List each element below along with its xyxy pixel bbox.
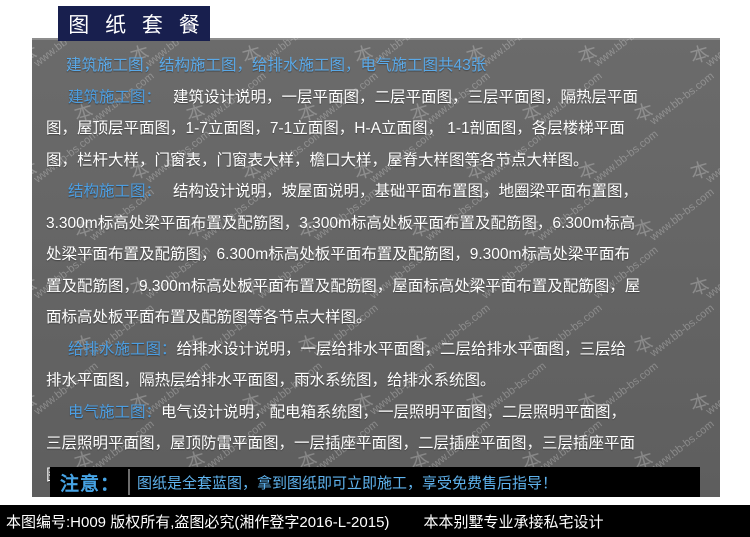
- page-title-box: 图 纸 套 餐: [58, 6, 210, 41]
- notice-bar: 注意： 图纸是全套蓝图，拿到图纸即可立即施工，享受免费售后指导！: [50, 467, 700, 497]
- footer-copyright: 本图编号:H009 版权所有,盗图必究(湘作登字2016-L-2015): [0, 511, 389, 532]
- section-electrical-first-line: 电气施工图：电气设计说明，配电箱系统图，一层照明平面图，二层照明平面图，: [46, 397, 706, 429]
- summary-line: 建筑施工图，结构施工图，给排水施工图，电气施工图共43张: [46, 50, 706, 82]
- section-electrical-colon: ：: [146, 404, 162, 421]
- section-electrical-line-0: 电气设计说明，配电箱系统图，一层照明平面图，二层照明平面图，: [161, 404, 626, 421]
- section-structural-title: 结构施工图: [68, 183, 146, 200]
- section-architectural-colon: ：: [146, 89, 162, 106]
- section-plumbing-line-1-row: 排水平面图，隔热层给排水平面图，雨水系统图，给排水系统图。: [46, 365, 706, 397]
- section-architectural-first-line: 建筑施工图：建筑设计说明，一层平面图，二层平面图，三层平面图，隔热层平面: [46, 82, 706, 114]
- section-architectural-line-2: 图，栏杆大样，门窗表，门窗表大样，檐口大样，屋脊大样图等各节点大样图。: [46, 152, 589, 169]
- section-architectural-line-2-row: 图，栏杆大样，门窗表，门窗表大样，檐口大样，屋脊大样图等各节点大样图。: [46, 145, 706, 177]
- section-architectural-title: 建筑施工图: [68, 89, 146, 106]
- section-plumbing-colon: ：: [161, 341, 177, 358]
- section-architectural-line-0: 建筑设计说明，一层平面图，二层平面图，三层平面图，隔热层平面: [173, 89, 638, 106]
- section-electrical-line-1-row: 三层照明平面图，屋顶防雷平面图，一层插座平面图，二层插座平面图，三层插座平面: [46, 428, 706, 460]
- section-structural-colon: ：: [146, 183, 162, 200]
- section-structural-line-2-row: 处梁平面布置及配筋图，6.300m标高处板平面布置及配筋图，9.300m标高处梁…: [46, 239, 706, 271]
- section-structural-line-4: 面标高处板平面布置及配筋图等各节点大样图。: [46, 309, 372, 326]
- section-structural-line-1: 3.300m标高处梁平面布置及配筋图，3.300m标高处板平面布置及配筋图，6.…: [46, 215, 635, 232]
- notice-label: 注意：: [50, 469, 128, 496]
- section-structural-first-line: 结构施工图：结构设计说明，坡屋面说明，基础平面布置图，地圈梁平面布置图，: [46, 176, 706, 208]
- section-architectural-line-1: 图，屋顶层平面图，1-7立面图，7-1立面图，H-A立面图， 1-1剖面图，各层…: [46, 120, 625, 137]
- section-structural-line-4-row: 面标高处板平面布置及配筋图等各节点大样图。: [46, 302, 706, 334]
- section-structural-line-1-row: 3.300m标高处梁平面布置及配筋图，3.300m标高处板平面布置及配筋图，6.…: [46, 208, 706, 240]
- section-plumbing-first-line: 给排水施工图：给排水设计说明，一层给排水平面图，二层给排水平面图，三层给: [46, 334, 706, 366]
- section-architectural-line-1-row: 图，屋顶层平面图，1-7立面图，7-1立面图，H-A立面图， 1-1剖面图，各层…: [46, 113, 706, 145]
- section-electrical-line-1: 三层照明平面图，屋顶防雷平面图，一层插座平面图，二层插座平面图，三层插座平面: [46, 435, 635, 452]
- section-structural-line-0: 结构设计说明，坡屋面说明，基础平面布置图，地圈梁平面布置图，: [173, 183, 638, 200]
- content-panel: www.bb-bs.com本www.bb-bs.com本www.bb-bs.co…: [32, 38, 720, 497]
- footer-brand: 本本别墅专业承接私宅设计: [389, 511, 603, 532]
- notice-text: 图纸是全套蓝图，拿到图纸即可立即施工，享受免费售后指导！: [137, 472, 557, 493]
- section-electrical-title: 电气施工图: [68, 404, 146, 421]
- section-structural-line-2: 处梁平面布置及配筋图，6.300m标高处板平面布置及配筋图，9.300m标高处梁…: [46, 246, 630, 263]
- section-plumbing-line-0: 给排水设计说明，一层给排水平面图，二层给排水平面图，三层给: [177, 341, 627, 358]
- section-structural-line-3: 置及配筋图，9.300m标高处板平面布置及配筋图，屋面标高处梁平面布置及配筋图，…: [46, 278, 640, 295]
- section-plumbing-line-1: 排水平面图，隔热层给排水平面图，雨水系统图，给排水系统图。: [46, 372, 496, 389]
- section-structural-line-3-row: 置及配筋图，9.300m标高处板平面布置及配筋图，屋面标高处梁平面布置及配筋图，…: [46, 271, 706, 303]
- section-plumbing-title: 给排水施工图: [68, 341, 161, 358]
- notice-divider: [128, 469, 130, 495]
- page-title: 图 纸 套 餐: [63, 9, 205, 39]
- drawing-list-body: 建筑施工图，结构施工图，给排水施工图，电气施工图共43张 建筑施工图：建筑设计说…: [32, 38, 720, 497]
- footer-bar: 本图编号:H009 版权所有,盗图必究(湘作登字2016-L-2015) 本本别…: [0, 505, 750, 537]
